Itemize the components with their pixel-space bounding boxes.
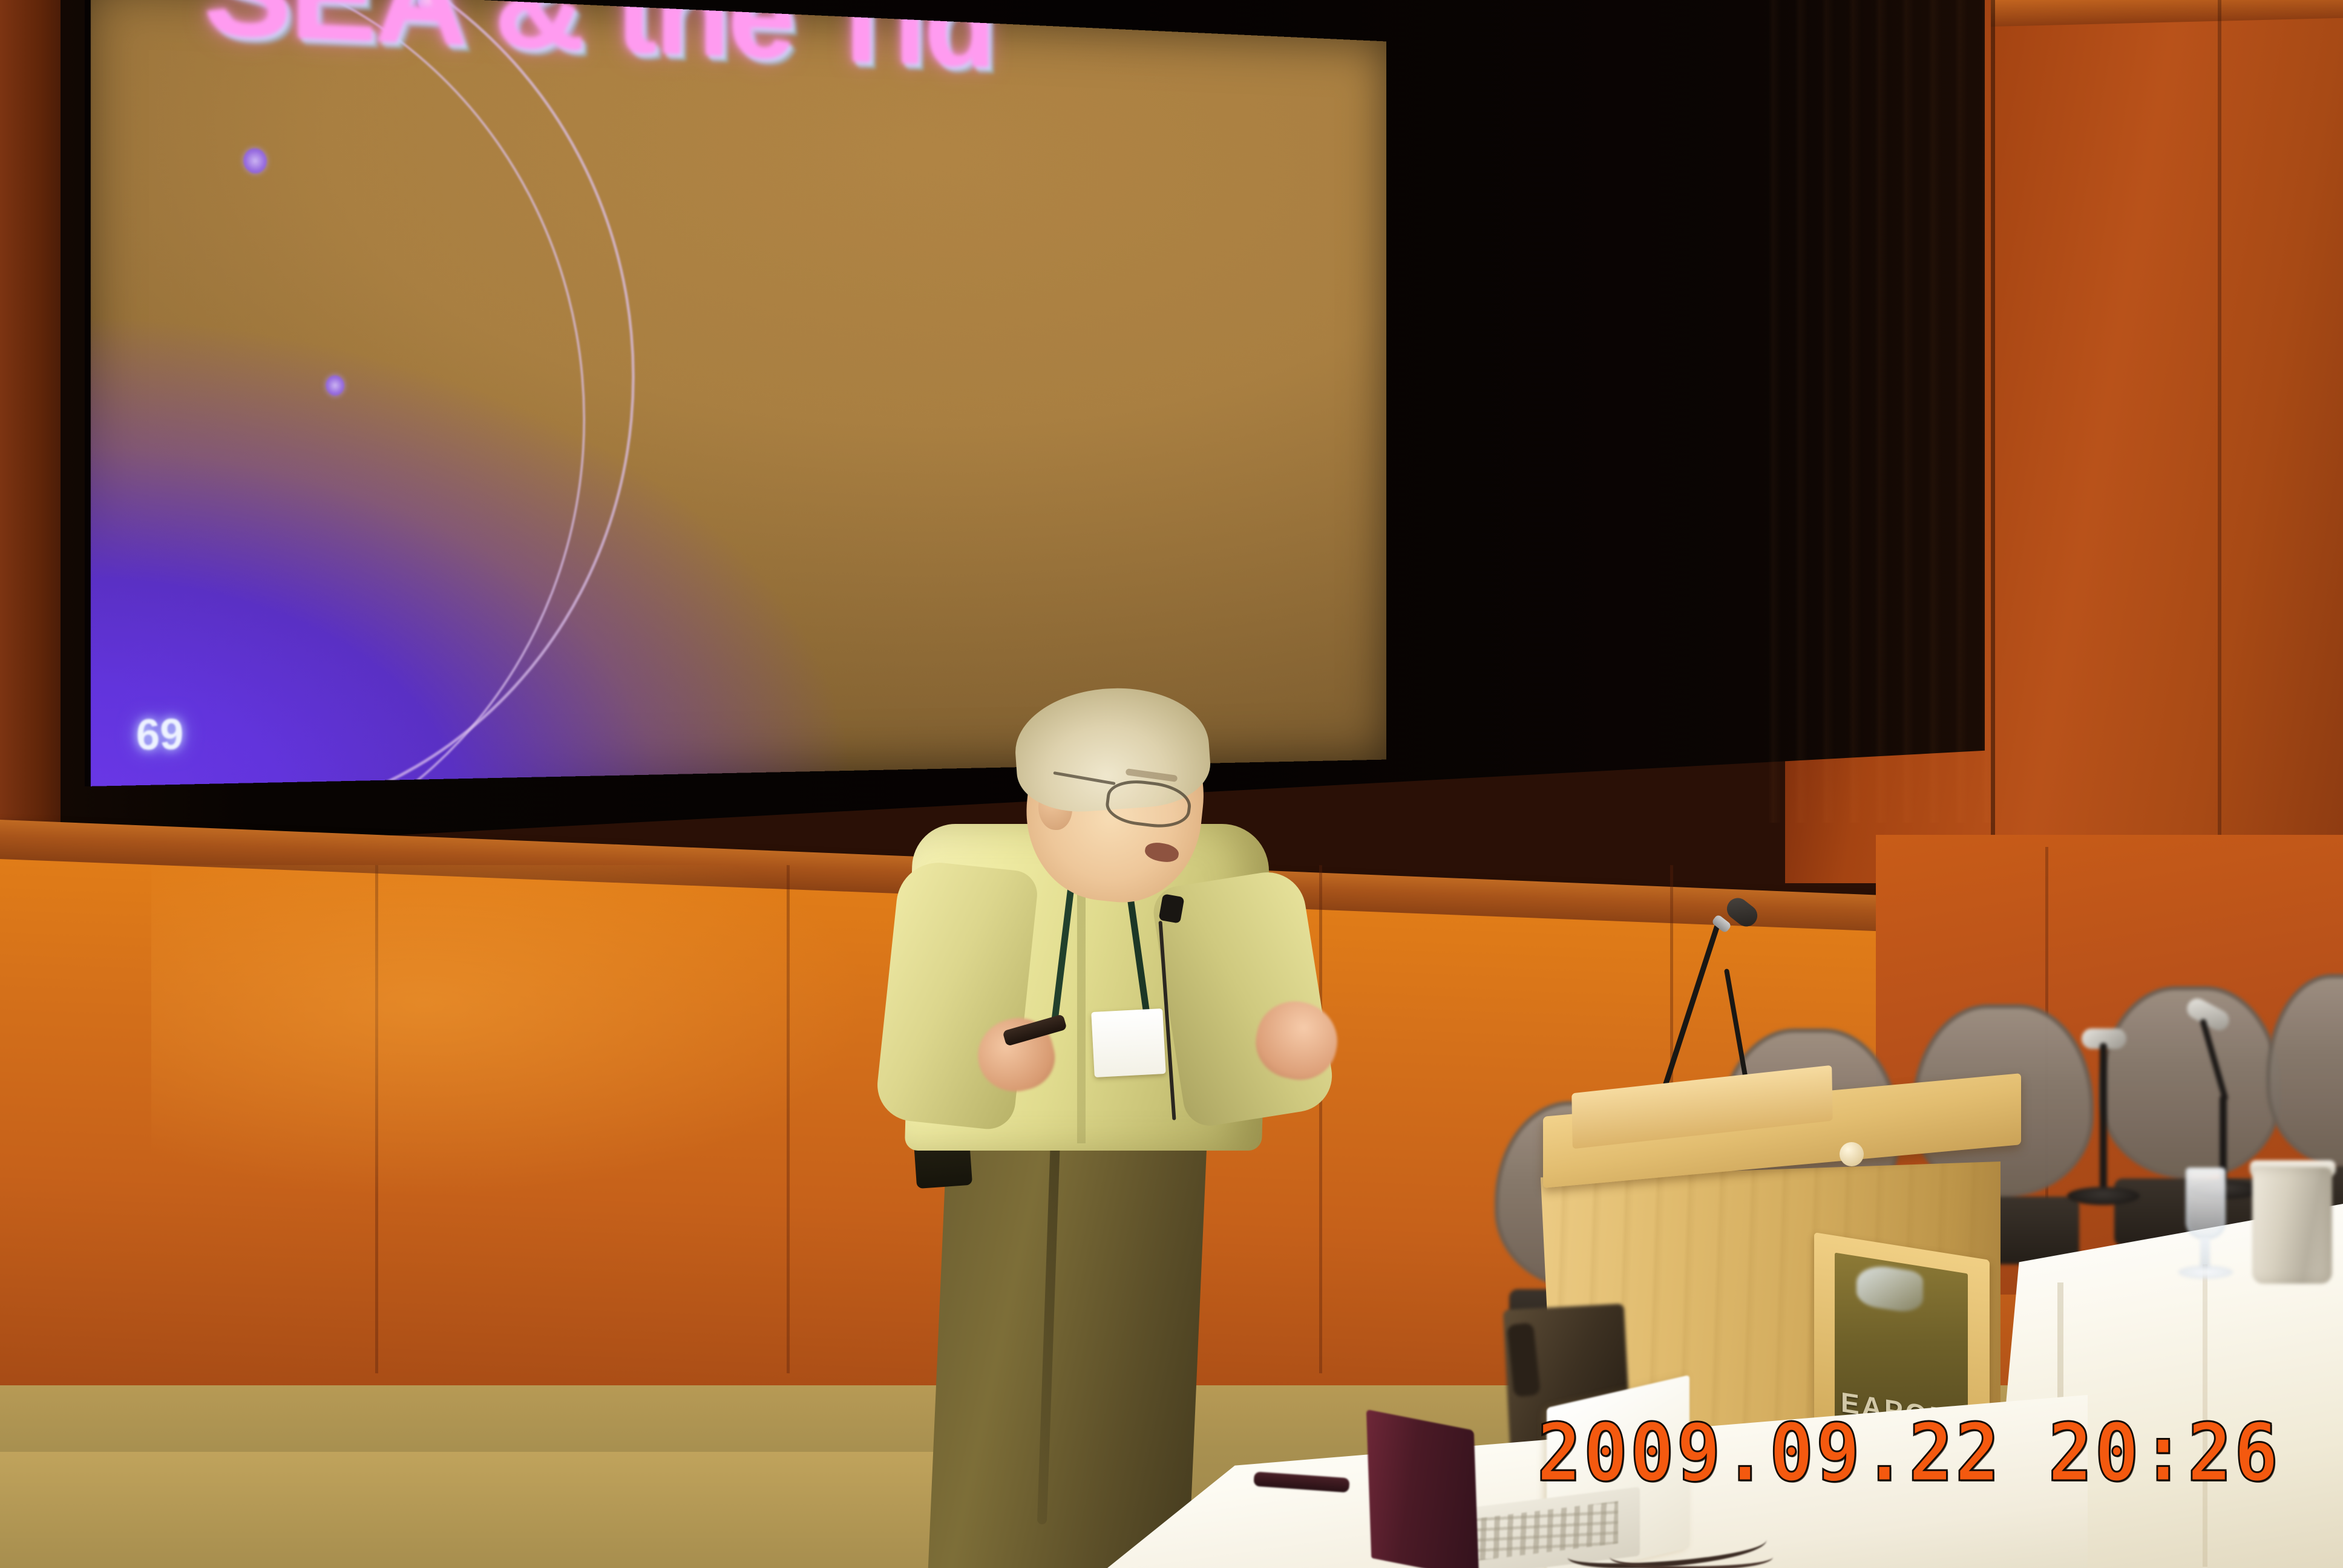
water-pitcher <box>2252 1168 2332 1284</box>
glass-foot <box>2178 1266 2233 1279</box>
slide-dot-decoration <box>243 148 267 174</box>
curtain-folds <box>1755 0 1997 823</box>
lapel-microphone <box>1158 893 1184 924</box>
laptop-dark-lid <box>1366 1410 1479 1568</box>
stage-floor-foreground <box>0 1452 980 1568</box>
name-badge <box>1091 1008 1165 1077</box>
glass-stem <box>2200 1238 2210 1269</box>
panel-seam <box>787 865 790 1373</box>
drinking-glass <box>2186 1168 2226 1239</box>
trousers <box>928 1119 1208 1568</box>
sign-glare <box>1856 1262 1923 1315</box>
chair-backrest <box>2266 974 2343 1166</box>
screen-left-edge <box>85 0 91 786</box>
photograph-canvas: SEA & the Tid 69 <box>0 0 2343 1568</box>
slide-page-number: 69 <box>136 710 183 760</box>
speaker-person <box>871 696 1440 1568</box>
power-cable <box>1610 1544 1773 1568</box>
microphone-stem <box>2100 1043 2107 1191</box>
panel-seam <box>375 865 378 1373</box>
slide-dot-decoration <box>326 375 344 396</box>
wall-seam <box>2218 0 2221 883</box>
microphone-base <box>2067 1187 2140 1205</box>
camera-timestamp-overlay: 2009.09.22 20:26 <box>1537 1413 2281 1493</box>
lectern-knob <box>1840 1142 1864 1166</box>
projection-screen: SEA & the Tid 69 <box>85 0 1386 786</box>
